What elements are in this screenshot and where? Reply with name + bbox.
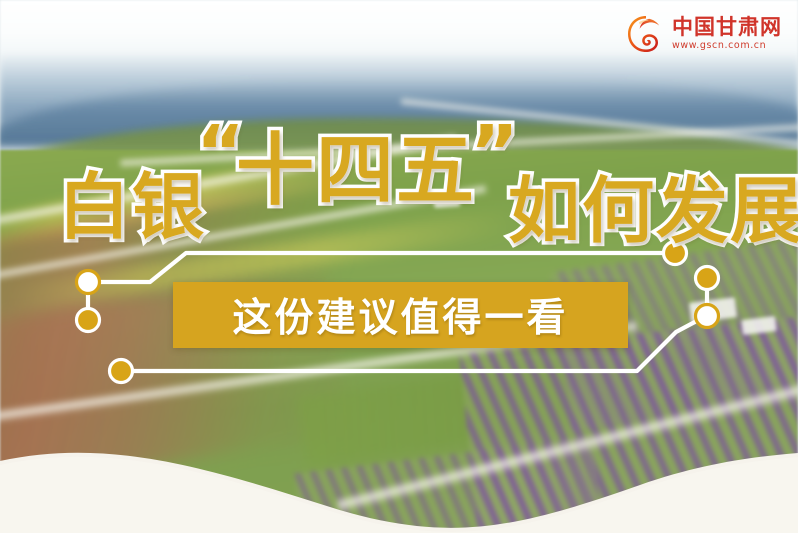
logo-text-block: 中国甘肃网 www.gscn.com.cn — [672, 17, 782, 51]
gscn-swirl-logo-icon — [626, 14, 666, 54]
site-logo[interactable]: 中国甘肃网 www.gscn.com.cn — [626, 14, 782, 54]
poster-canvas: 白银 “ 十四五 ” 如何发展 这份建议值得一看 — [0, 0, 798, 533]
logo-site-url: www.gscn.com.cn — [672, 41, 782, 51]
subtitle-banner: 这份建议值得一看 — [173, 282, 628, 348]
subtitle-banner-text: 这份建议值得一看 — [232, 287, 568, 343]
bottom-wave-decoration — [0, 423, 798, 533]
logo-site-name: 中国甘肃网 — [672, 17, 782, 38]
farm-building-3 — [434, 195, 461, 208]
